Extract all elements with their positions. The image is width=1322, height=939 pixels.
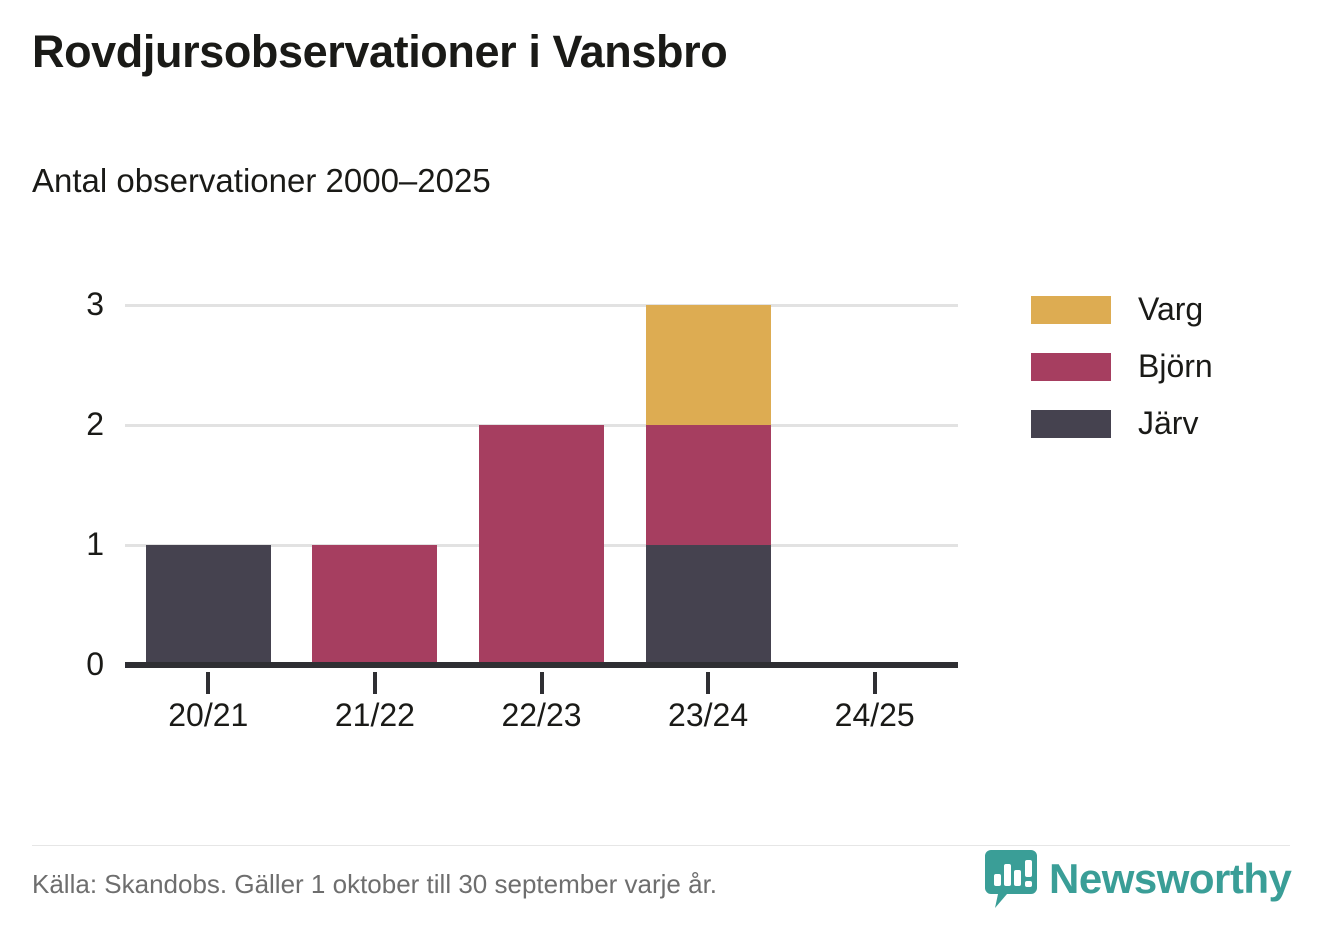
x-axis-tick [206,672,210,694]
y-axis-tick-label: 1 [44,528,104,560]
x-axis-line [125,662,958,668]
legend-label: Björn [1138,345,1213,387]
legend-swatch [1031,353,1111,381]
bar-group[interactable] [479,305,604,665]
bar-segment[interactable] [312,545,437,665]
legend-swatch [1031,410,1111,438]
bar-segment[interactable] [146,545,271,665]
chart-legend: VargBjörnJärv [1031,288,1311,459]
bar-segment[interactable] [646,305,771,425]
footer-divider [32,845,1290,846]
legend-label: Varg [1138,288,1203,330]
bar-group[interactable] [312,305,437,665]
y-axis-tick-label: 2 [44,408,104,440]
x-axis-tick [373,672,377,694]
y-axis-tick-label: 0 [44,648,104,680]
bar-chart-speech-bubble-icon [985,850,1037,908]
bar-group[interactable] [646,305,771,665]
bar-group[interactable] [812,305,937,665]
x-axis-tick [706,672,710,694]
legend-item[interactable]: Björn [1031,345,1311,402]
legend-item[interactable]: Järv [1031,402,1311,459]
x-axis-tick [540,672,544,694]
brand-wordmark: Newsworthy [1049,858,1291,900]
x-axis-tick-label: 24/25 [775,697,975,734]
newsworthy-logo[interactable]: Newsworthy [985,848,1291,910]
legend-label: Järv [1138,402,1198,444]
bars-plot-area [125,305,958,665]
legend-item[interactable]: Varg [1031,288,1311,345]
bar-segment[interactable] [646,545,771,665]
bar-segment[interactable] [646,425,771,545]
y-axis-tick-label: 3 [44,288,104,320]
bar-segment[interactable] [479,425,604,665]
legend-swatch [1031,296,1111,324]
x-axis-tick [873,672,877,694]
source-note: Källa: Skandobs. Gäller 1 oktober till 3… [32,869,717,900]
bar-group[interactable] [146,305,271,665]
chart-card: Rovdjursobservationer i Vansbro Antal ob… [0,0,1322,939]
